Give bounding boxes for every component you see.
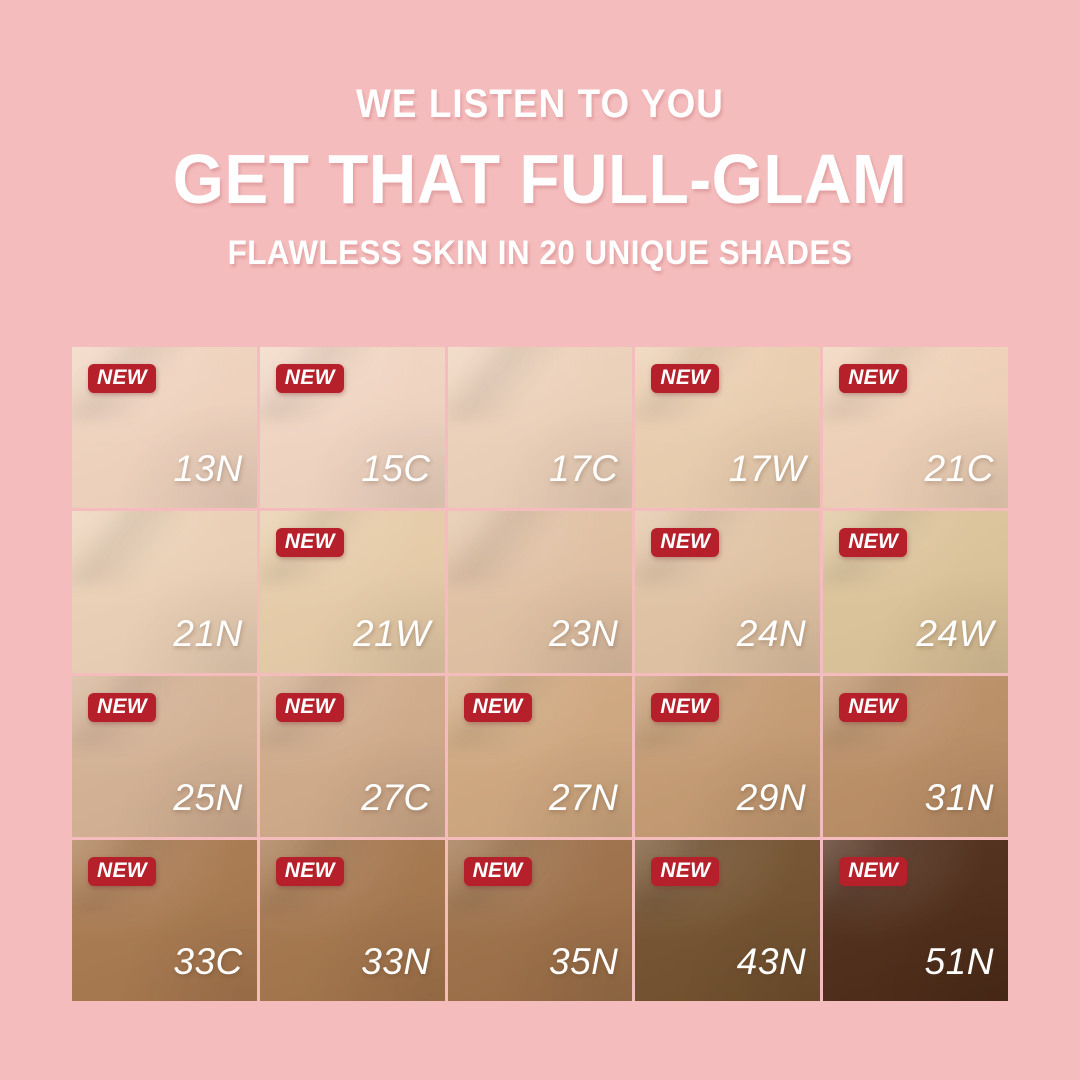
new-badge: NEW — [88, 693, 156, 722]
new-badge: NEW — [276, 693, 344, 722]
shade-label: 27N — [549, 777, 618, 819]
shade-label: 29N — [737, 777, 806, 819]
new-badge: NEW — [839, 528, 907, 557]
shade-swatch[interactable]: NEW24W — [823, 511, 1008, 672]
new-badge: NEW — [651, 857, 719, 886]
shade-swatch[interactable]: 23N — [448, 511, 633, 672]
shade-swatch[interactable]: NEW33C — [72, 840, 257, 1001]
shade-swatch[interactable]: NEW21W — [260, 511, 445, 672]
shade-label: 21W — [353, 613, 431, 655]
new-badge: NEW — [839, 857, 907, 886]
shade-label: 35N — [549, 941, 618, 983]
shade-label: 13N — [173, 448, 242, 490]
new-badge: NEW — [839, 693, 907, 722]
shade-label: 21C — [925, 448, 994, 490]
shade-label: 24W — [916, 613, 994, 655]
shade-swatch[interactable]: NEW27N — [448, 676, 633, 837]
shade-label: 25N — [173, 777, 242, 819]
new-badge: NEW — [276, 857, 344, 886]
shade-label: 33C — [173, 941, 242, 983]
header-kicker: WE LISTEN TO YOU — [43, 84, 1037, 124]
shade-swatch[interactable]: NEW17W — [635, 347, 820, 508]
shade-swatch-grid: NEW13NNEW15C17CNEW17WNEW21C21NNEW21W23NN… — [72, 347, 1008, 1001]
new-badge: NEW — [276, 364, 344, 393]
new-badge: NEW — [276, 528, 344, 557]
shade-swatch[interactable]: NEW31N — [823, 676, 1008, 837]
shade-swatch[interactable]: NEW27C — [260, 676, 445, 837]
shade-label: 24N — [737, 613, 806, 655]
shade-label: 33N — [361, 941, 430, 983]
shade-swatch[interactable]: NEW25N — [72, 676, 257, 837]
shade-swatch[interactable]: NEW35N — [448, 840, 633, 1001]
shade-label: 27C — [361, 777, 430, 819]
new-badge: NEW — [464, 693, 532, 722]
new-badge: NEW — [651, 364, 719, 393]
shade-label: 51N — [925, 941, 994, 983]
shade-swatch[interactable]: 21N — [72, 511, 257, 672]
shade-swatch[interactable]: 17C — [448, 347, 633, 508]
shade-label: 21N — [173, 613, 242, 655]
shade-label: 23N — [549, 613, 618, 655]
new-badge: NEW — [839, 364, 907, 393]
shade-swatch[interactable]: NEW43N — [635, 840, 820, 1001]
shade-swatch[interactable]: NEW13N — [72, 347, 257, 508]
new-badge: NEW — [464, 857, 532, 886]
shade-swatch[interactable]: NEW33N — [260, 840, 445, 1001]
new-badge: NEW — [651, 528, 719, 557]
shade-swatch[interactable]: NEW24N — [635, 511, 820, 672]
new-badge: NEW — [88, 364, 156, 393]
shade-label: 17W — [729, 448, 807, 490]
shade-label: 17C — [549, 448, 618, 490]
shade-label: 31N — [925, 777, 994, 819]
new-badge: NEW — [88, 857, 156, 886]
header-subline: FLAWLESS SKIN IN 20 UNIQUE SHADES — [43, 236, 1037, 270]
shade-swatch[interactable]: NEW15C — [260, 347, 445, 508]
promo-header: WE LISTEN TO YOU GET THAT FULL-GLAM FLAW… — [0, 0, 1080, 270]
new-badge: NEW — [651, 693, 719, 722]
shade-swatch[interactable]: NEW21C — [823, 347, 1008, 508]
shade-label: 15C — [361, 448, 430, 490]
shade-swatch[interactable]: NEW51N — [823, 840, 1008, 1001]
shade-label: 43N — [737, 941, 806, 983]
shade-swatch[interactable]: NEW29N — [635, 676, 820, 837]
page-title: GET THAT FULL-GLAM — [32, 144, 1047, 214]
